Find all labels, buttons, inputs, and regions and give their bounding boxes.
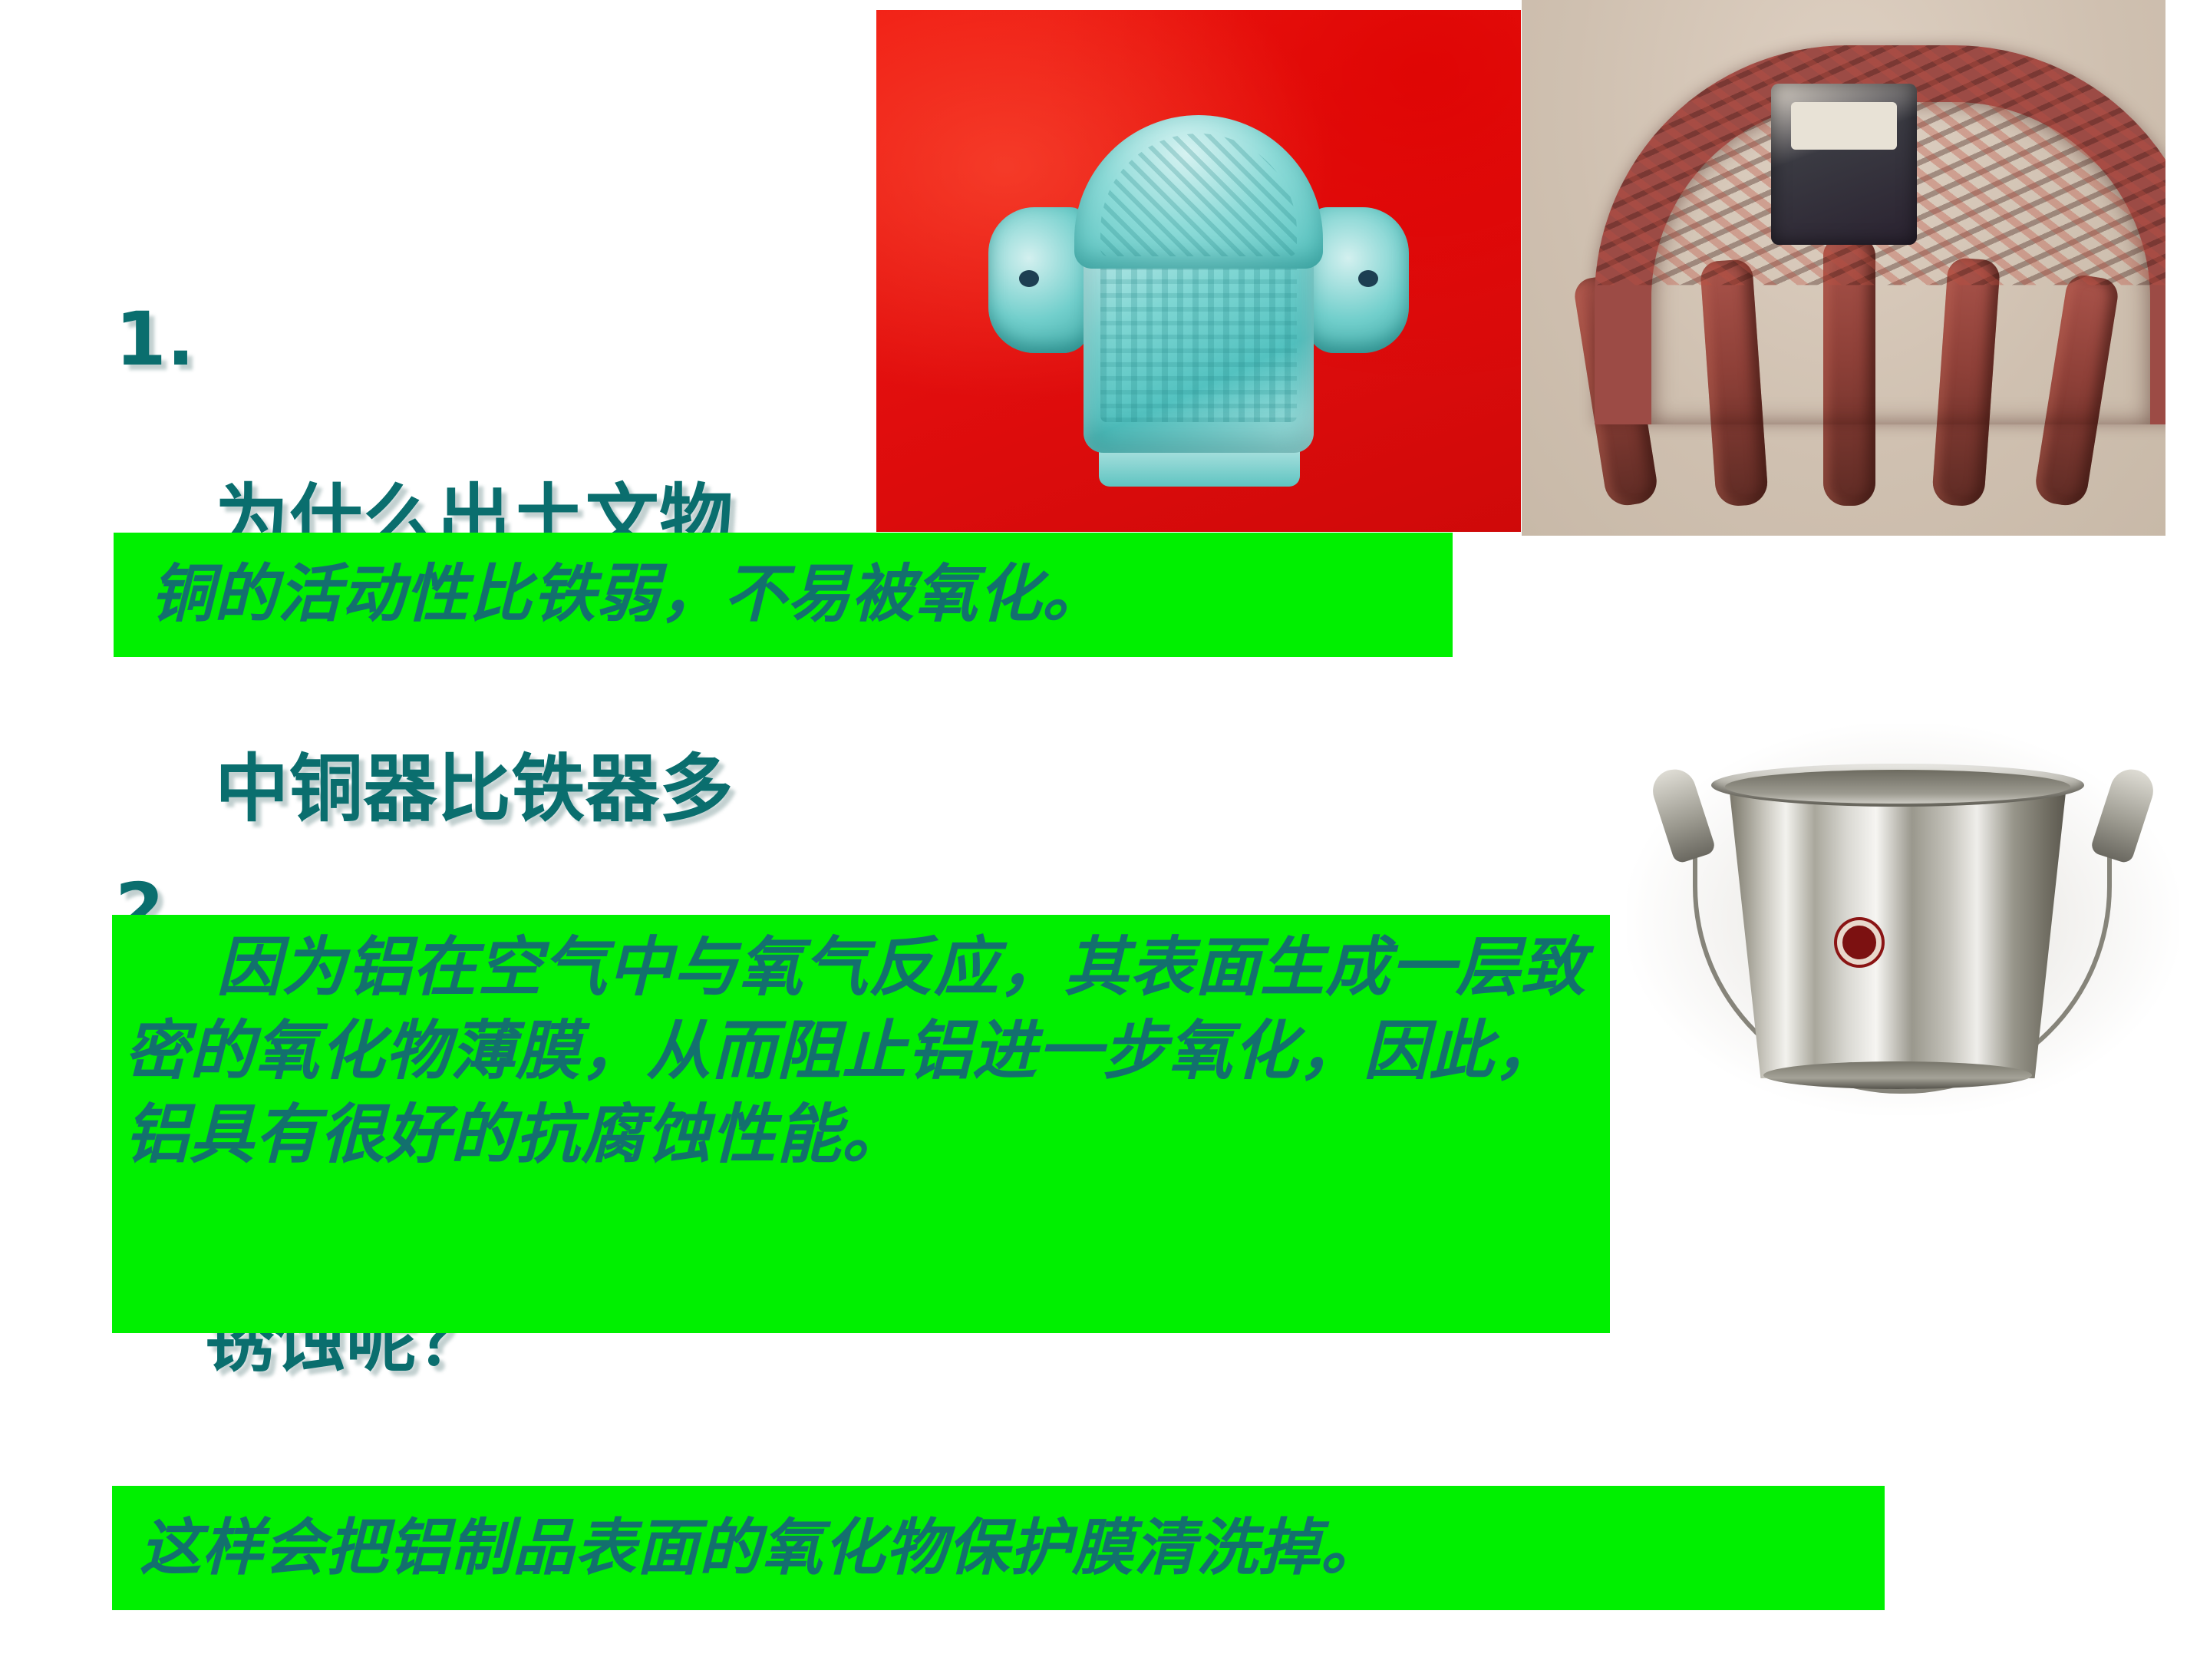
- bronze-vessel-object: [984, 92, 1413, 491]
- rusted-iron-artifact-photo: [1522, 0, 2165, 536]
- bronze-vessel-lid: [1074, 115, 1323, 269]
- bronze-handle-eye: [1019, 270, 1039, 287]
- bronze-vessel-photo: [876, 10, 1521, 532]
- answer-1-text: 铜的活动性比铁弱，不易被氧化。: [114, 554, 1106, 636]
- answer-3-text: 这样会把铝制品表面的氧化物保护膜清洗掉。: [112, 1508, 1383, 1588]
- answer-3-highlight-box: 这样会把铝制品表面的氧化物保护膜清洗掉。: [112, 1486, 1885, 1610]
- pot-bottom: [1763, 1061, 2032, 1089]
- pot-body: [1717, 779, 2078, 1078]
- aluminum-pot-photo: [1627, 724, 2179, 1115]
- pot-interior: [1725, 770, 2070, 804]
- bronze-handle-eye: [1358, 270, 1378, 287]
- rust-center-block: [1771, 84, 1917, 245]
- rusted-iron-object: [1579, 30, 2109, 506]
- pot-red-mark-icon: [1837, 920, 1882, 965]
- bronze-handle-right: [1308, 207, 1409, 353]
- answer-1-highlight-box: 铜的活动性比铁弱，不易被氧化。: [114, 533, 1453, 657]
- answer-2-text: 因为铝在空气中与氧气反应，其表面生成一层致密的氧化物薄膜，从而阻止铝进一步氧化，…: [112, 915, 1610, 1177]
- answer-2-highlight-box: 因为铝在空气中与氧气反应，其表面生成一层致密的氧化物薄膜，从而阻止铝进一步氧化，…: [112, 915, 1610, 1333]
